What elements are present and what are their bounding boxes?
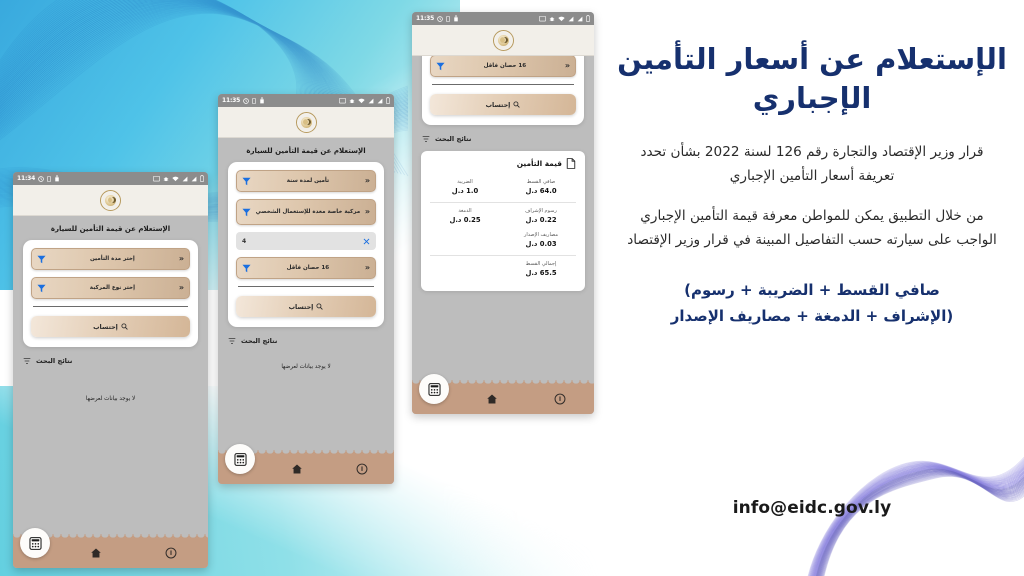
bag-icon (259, 97, 265, 104)
wifi-icon (558, 16, 565, 22)
status-bar: 11:35 (218, 94, 394, 107)
slide-canvas: 11:34 الإستعلام عن قيمة التأمين للسيارة (0, 0, 1024, 576)
bottom-navigation (13, 538, 208, 568)
bottom-navigation (412, 384, 594, 414)
result-item-net-premium: صافي القسط 64.0 د.ل (506, 179, 576, 195)
search-form-card: « إختر مدة التأمين « إختر نوع المركبة إح… (23, 240, 198, 347)
home-icon[interactable] (291, 463, 303, 475)
promo-formula-line-2: (الإشراف + الدمغة + مصاريف الإصدار (622, 304, 1002, 330)
sim-icon (446, 16, 450, 22)
app-bar (218, 107, 394, 138)
page-title: الإستعلام عن قيمة التأمين للسيارة (13, 216, 208, 240)
signal-icon (568, 16, 574, 22)
chevron-left-icon: « (365, 177, 370, 185)
chevron-left-icon: « (365, 208, 370, 216)
signal-icon (191, 176, 197, 182)
form-divider (432, 84, 574, 85)
home-icon[interactable] (90, 547, 102, 559)
battery-icon (200, 175, 204, 182)
search-icon (316, 303, 323, 310)
search-form-card: « 16 حصان فاقل إحتساب (422, 56, 584, 125)
filter-icon[interactable] (228, 337, 236, 345)
app-bar (412, 25, 594, 56)
calculator-icon (428, 383, 441, 396)
app-screen: الإستعلام عن قيمة التأمين للسيارة « إختر… (13, 216, 208, 568)
info-icon[interactable] (356, 463, 368, 475)
insurance-duration-dropdown[interactable]: « إختر مدة التأمين (31, 248, 190, 270)
funnel-icon (37, 255, 46, 264)
engine-power-value: 16 حصان فاقل (445, 63, 565, 70)
result-spacer (430, 232, 500, 248)
result-row: إجمالي القسط 65.5 د.ل (430, 258, 576, 282)
search-icon (513, 101, 520, 108)
results-header: نتائج البحث (13, 347, 208, 370)
insurance-duration-value: تأمين لمدة سنة (251, 178, 365, 185)
engine-power-dropdown[interactable]: « 16 حصان فاقل (430, 56, 576, 77)
filter-icon[interactable] (422, 135, 430, 143)
result-row: رسوم الإشراف 0.22 د.ل الدمغة 0.25 د.ل (430, 205, 576, 229)
close-icon[interactable] (363, 238, 370, 245)
phone-empty-form: 11:34 الإستعلام عن قيمة التأمين للسيارة (13, 172, 208, 568)
filter-icon[interactable] (23, 357, 31, 365)
promo-paragraph-2: من خلال التطبيق يمكن للمواطن معرفة قيمة … (626, 204, 998, 252)
app-logo-icon (296, 112, 317, 133)
result-label: إجمالي القسط (506, 261, 576, 267)
calculator-fab-button[interactable] (20, 528, 50, 558)
result-label: الدمغة (430, 208, 500, 214)
result-value: 1.0 د.ل (430, 187, 500, 195)
form-divider (33, 306, 188, 307)
result-value: 65.5 د.ل (506, 269, 576, 277)
calculate-button-label: إحتساب (486, 101, 511, 109)
calculate-button[interactable]: إحتساب (31, 316, 190, 337)
vehicle-type-value: مركبة خاصة معدة للإستعمال الشخصي (251, 209, 365, 216)
app-logo-icon (100, 190, 121, 211)
page-title: الإستعلام عن قيمة التأمين للسيارة (218, 138, 394, 162)
info-icon[interactable] (554, 393, 566, 405)
bottom-navigation (218, 454, 394, 484)
calculator-fab-button[interactable] (419, 374, 449, 404)
cast-icon (339, 98, 346, 104)
result-divider (430, 255, 576, 256)
result-item-supervision-fee: رسوم الإشراف 0.22 د.ل (506, 208, 576, 224)
chevron-left-icon: « (179, 255, 184, 263)
result-value: 0.03 د.ل (506, 240, 576, 248)
cast-icon (153, 176, 160, 182)
calculator-icon (234, 453, 247, 466)
result-label: مصاريف الإصدار (506, 232, 576, 238)
funnel-icon (37, 284, 46, 293)
results-title: نتائج البحث (435, 135, 471, 143)
calculate-button-label: إحتساب (289, 303, 314, 311)
result-row: صافي القسط 64.0 د.ل الضريبة 1.0 د.ل (430, 176, 576, 200)
info-icon[interactable] (165, 547, 177, 559)
result-card-title: قيمة التأمين (517, 159, 562, 168)
promo-headline: الإستعلام عن أسعار التأمين الإجباري (612, 40, 1012, 118)
result-card-header: قيمة التأمين (430, 158, 576, 176)
sim-icon (252, 98, 256, 104)
promo-copy-column: الإستعلام عن أسعار التأمين الإجباري قرار… (612, 26, 1012, 546)
results-title: نتائج البحث (241, 337, 277, 345)
status-bar: 11:34 (13, 172, 208, 185)
engine-power-value: 16 حصان فاقل (251, 265, 365, 272)
engine-power-dropdown[interactable]: « 16 حصان فاقل (236, 257, 376, 279)
vehicle-type-value: إختر نوع المركبة (46, 285, 179, 292)
bug-icon (163, 176, 169, 182)
result-label: الضريبة (430, 179, 500, 185)
result-label: صافي القسط (506, 179, 576, 185)
app-logo-icon (493, 30, 514, 51)
signal-icon (182, 176, 188, 182)
wifi-icon (172, 176, 179, 182)
chevron-left-icon: « (365, 264, 370, 272)
signal-icon (368, 98, 374, 104)
calculate-button[interactable]: إحتساب (430, 94, 576, 115)
app-screen: الإستعلام عن قيمة التأمين للسيارة « تأمي… (218, 138, 394, 484)
form-divider (238, 286, 374, 287)
chevron-left-icon: « (565, 62, 570, 70)
result-item-stamp: الدمغة 0.25 د.ل (430, 208, 500, 224)
result-label: رسوم الإشراف (506, 208, 576, 214)
insurance-duration-value: إختر مدة التأمين (46, 256, 179, 263)
seats-count-input[interactable]: 4 (236, 232, 376, 250)
bug-icon (349, 98, 355, 104)
status-bar-time: 11:35 (416, 15, 434, 22)
contact-email[interactable]: info@eidc.gov.ly (612, 498, 1012, 518)
cast-icon (539, 16, 546, 22)
result-value: 64.0 د.ل (506, 187, 576, 195)
results-header: نتائج البحث (218, 327, 394, 350)
result-item-tax: الضريبة 1.0 د.ل (430, 179, 500, 195)
insurance-result-card: قيمة التأمين صافي القسط 64.0 د.ل الضريبة… (421, 151, 585, 291)
app-bar (13, 185, 208, 216)
sim-icon (47, 176, 51, 182)
result-divider (430, 202, 576, 203)
phone-filled-form: 11:35 الإستعلام عن قيمة التأمين للسيارة (218, 94, 394, 484)
battery-icon (386, 97, 390, 104)
document-icon (566, 158, 576, 169)
results-title: نتائج البحث (36, 357, 72, 365)
phone-results: 11:35 « 16 حصان فاقل (412, 12, 594, 414)
vehicle-type-dropdown[interactable]: « إختر نوع المركبة (31, 277, 190, 299)
empty-state-message: لا يوجد بيانات لعرضها (13, 370, 208, 402)
empty-state-message: لا يوجد بيانات لعرضها (218, 350, 394, 370)
signal-icon (377, 98, 383, 104)
clock-icon (243, 98, 249, 104)
seats-count-value: 4 (242, 238, 246, 245)
clock-icon (437, 16, 443, 22)
bag-icon (54, 175, 60, 182)
calculator-icon (29, 537, 42, 550)
result-value: 0.22 د.ل (506, 216, 576, 224)
status-bar-time: 11:34 (17, 175, 35, 182)
vehicle-type-dropdown[interactable]: « مركبة خاصة معدة للإستعمال الشخصي (236, 199, 376, 225)
result-item-total-premium: إجمالي القسط 65.5 د.ل (506, 261, 576, 277)
search-form-card: « تأمين لمدة سنة « مركبة خاصة معدة للإست… (228, 162, 384, 327)
bug-icon (549, 16, 555, 22)
promo-formula-line-1: صافي القسط + الضريبة + رسوم) (622, 278, 1002, 304)
funnel-icon (242, 208, 251, 217)
signal-icon (577, 16, 583, 22)
app-screen: « 16 حصان فاقل إحتساب نتائج البحث (412, 56, 594, 414)
status-bar-time: 11:35 (222, 97, 240, 104)
insurance-duration-dropdown[interactable]: « تأمين لمدة سنة (236, 170, 376, 192)
result-spacer (430, 261, 500, 277)
result-item-issuance-fee: مصاريف الإصدار 0.03 د.ل (506, 232, 576, 248)
funnel-icon (242, 177, 251, 186)
clock-icon (38, 176, 44, 182)
chevron-left-icon: « (179, 284, 184, 292)
result-row: مصاريف الإصدار 0.03 د.ل (430, 229, 576, 253)
results-header: نتائج البحث (412, 125, 594, 148)
battery-icon (586, 15, 590, 22)
search-icon (121, 323, 128, 330)
promo-paragraph-1: قرار وزير الإقتصاد والتجارة رقم 126 لسنة… (626, 140, 998, 188)
result-value: 0.25 د.ل (430, 216, 500, 224)
bag-icon (453, 15, 459, 22)
home-icon[interactable] (486, 393, 498, 405)
status-bar: 11:35 (412, 12, 594, 25)
calculate-button-label: إحتساب (93, 323, 118, 331)
calculate-button[interactable]: إحتساب (236, 296, 376, 317)
wifi-icon (358, 98, 365, 104)
funnel-icon (436, 62, 445, 71)
calculator-fab-button[interactable] (225, 444, 255, 474)
funnel-icon (242, 264, 251, 273)
